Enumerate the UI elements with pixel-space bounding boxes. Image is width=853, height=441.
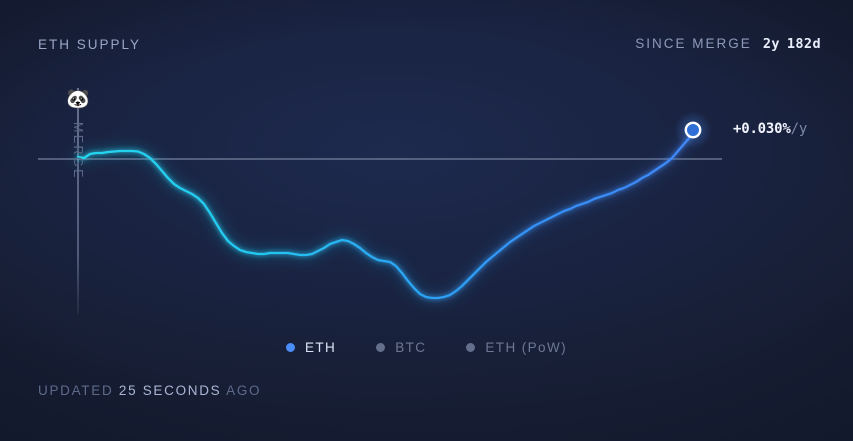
endpoint-dot[interactable] xyxy=(686,123,700,137)
endpoint-value-label: +0.030%/y xyxy=(733,121,807,137)
endpoint-unit: /y xyxy=(791,121,807,137)
legend-dot-eth-pow xyxy=(466,343,475,352)
panda-icon: 🐼 xyxy=(66,88,90,112)
endpoint-value: +0.030% xyxy=(733,121,791,137)
since-merge-days: 182d xyxy=(787,36,821,52)
legend-item-eth[interactable]: ETH xyxy=(286,340,336,355)
since-merge-label: SINCE MERGE xyxy=(635,36,752,51)
chart-legend: ETH BTC ETH (PoW) xyxy=(0,340,853,355)
updated-status: UPDATED 25 SECONDS AGO xyxy=(38,383,261,398)
widget-header: ETH SUPPLY SINCE MERGE 2y182d xyxy=(38,33,821,55)
legend-label-eth-pow: ETH (PoW) xyxy=(485,340,567,355)
legend-dot-btc xyxy=(376,343,385,352)
legend-label-btc: BTC xyxy=(395,340,426,355)
eth-line-glow-outer xyxy=(78,130,693,298)
page-title: ETH SUPPLY xyxy=(38,37,141,52)
updated-ago-label: AGO xyxy=(226,383,261,398)
merge-label: MERGE xyxy=(68,122,88,180)
since-merge-years: 2y xyxy=(763,36,780,52)
eth-supply-chart xyxy=(0,0,853,441)
eth-supply-line[interactable] xyxy=(78,130,693,298)
legend-dot-eth xyxy=(286,343,295,352)
legend-label-eth: ETH xyxy=(305,340,336,355)
updated-label: UPDATED xyxy=(38,383,113,398)
eth-line-glow-inner xyxy=(78,130,693,298)
since-merge-group: SINCE MERGE 2y182d xyxy=(635,36,821,52)
updated-value: 25 SECONDS xyxy=(119,383,222,398)
legend-item-btc[interactable]: BTC xyxy=(376,340,426,355)
since-merge-value: 2y182d xyxy=(763,36,821,52)
eth-supply-widget: ETH SUPPLY SINCE MERGE 2y182d xyxy=(0,0,853,441)
legend-item-eth-pow[interactable]: ETH (PoW) xyxy=(466,340,567,355)
